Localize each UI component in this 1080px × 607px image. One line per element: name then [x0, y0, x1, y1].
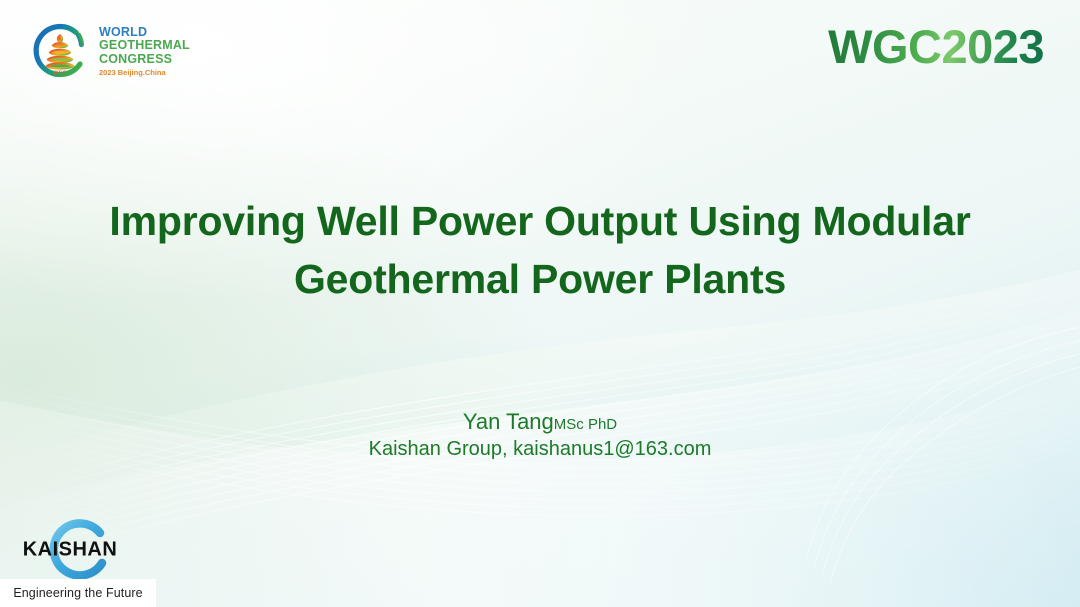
wgc-congress-logo: WGC WORLD GEOTHERMAL CONGRESS 2023 Beiji…: [28, 16, 178, 88]
kaishan-company-logo: KAISHAN Engineering the Future: [0, 517, 156, 607]
title-line-2: Geothermal Power Plants: [26, 250, 1054, 308]
event-wordmark: WGC2023: [828, 22, 1044, 72]
kaishan-ring-icon: KAISHAN: [14, 517, 138, 579]
author-degrees: MSc PhD: [554, 416, 617, 433]
page-title: Improving Well Power Output Using Modula…: [0, 192, 1080, 308]
author-affiliation: Kaishan Group, kaishanus1@163.com: [0, 436, 1080, 463]
author-block: Yan TangMSc PhD Kaishan Group, kaishanus…: [0, 408, 1080, 463]
author-line: Yan TangMSc PhD: [0, 408, 1080, 436]
svg-text:WGC: WGC: [53, 71, 66, 77]
wgc-circular-emblem-icon: WGC: [28, 20, 92, 84]
svg-text:KAISHAN: KAISHAN: [23, 539, 118, 561]
wgc-logo-line-3: CONGRESS: [99, 53, 190, 67]
author-name: Yan Tang: [463, 409, 554, 434]
wgc-logo-line-2: GEOTHERMAL: [99, 39, 190, 53]
wgc-logo-line-1: WORLD: [99, 26, 190, 40]
title-line-1: Improving Well Power Output Using Modula…: [26, 192, 1054, 250]
wgc-logo-text: WORLD GEOTHERMAL CONGRESS 2023 Beijing.C…: [99, 26, 190, 79]
wgc-logo-subtitle: 2023 Beijing.China: [99, 67, 190, 78]
slide-canvas: WGC WORLD GEOTHERMAL CONGRESS 2023 Beiji…: [0, 0, 1080, 607]
kaishan-tagline: Engineering the Future: [13, 586, 142, 600]
kaishan-tagline-band: Engineering the Future: [0, 579, 156, 607]
